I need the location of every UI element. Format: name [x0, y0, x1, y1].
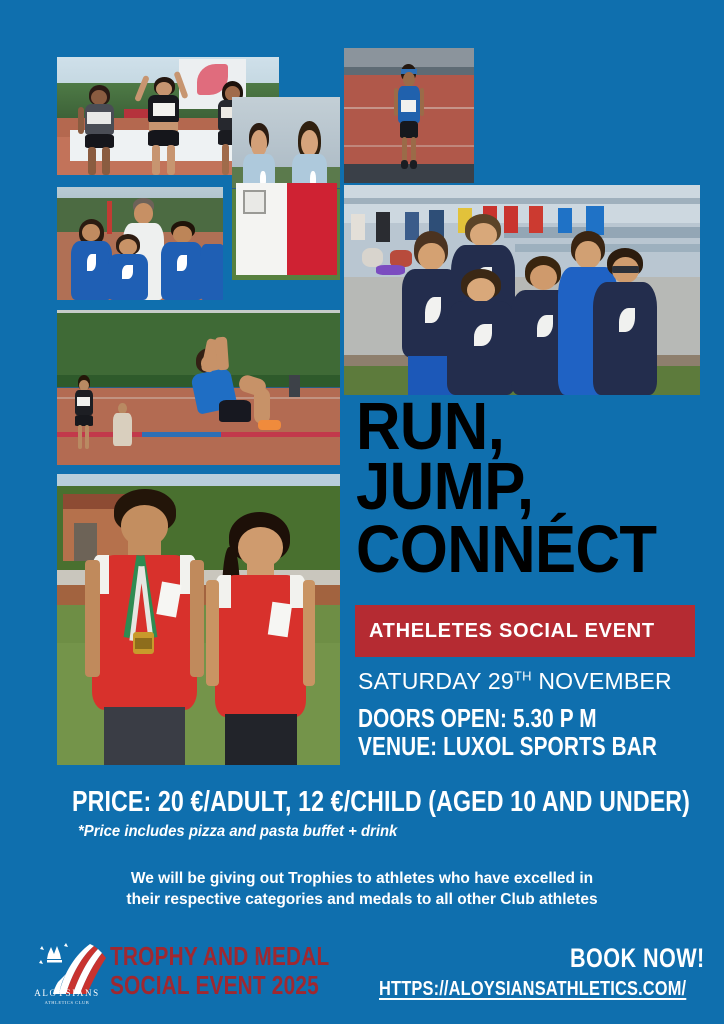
club-logo: ALOYSIANS ATHLETICS CLUB [28, 932, 106, 1010]
headline-line-2: JUMP, [356, 458, 533, 516]
club-logo-subtitle: ATHLETICS CLUB [28, 1000, 106, 1005]
poster-root: RUN, JUMP, CONNÉCT ATHELETES SOCIAL EVEN… [0, 0, 724, 1024]
photo-high-jump [57, 310, 340, 465]
photo-team-group [344, 185, 700, 395]
price-note: *Price includes pizza and pasta buffet +… [78, 823, 397, 841]
club-logo-mark [28, 932, 106, 1010]
photo-runner-track [344, 48, 474, 183]
footer-title-line-2: SOCIAL EVENT 2025 [110, 971, 319, 999]
headline-line-3: CONNÉCT [356, 521, 656, 579]
event-date: SATURDAY 29TH NOVEMBER [358, 668, 672, 695]
photo-medal-pair [57, 474, 340, 765]
event-date-ordinal: TH [514, 668, 532, 683]
award-description-line-1: We will be giving out Trophies to athlet… [0, 869, 724, 890]
venue-line: VENUE: LUXOL SPORTS BAR [358, 731, 657, 762]
event-type-label: ATHELETES SOCIAL EVENT [355, 620, 655, 643]
photo-coach-group [57, 187, 223, 300]
event-date-suffix: NOVEMBER [532, 668, 672, 694]
doors-open-line: DOORS OPEN: 5.30 P M [358, 703, 597, 734]
photo-malta-flag [232, 97, 340, 280]
book-now-label: BOOK NOW! [570, 943, 705, 974]
footer-title-line-1: TROPHY AND MEDAL [110, 942, 329, 970]
booking-url-link[interactable]: HTTPS://ALOYSIANSATHLETICS.COM/ [379, 977, 686, 1001]
club-logo-name: ALOYSIANS [28, 988, 106, 998]
event-date-prefix: SATURDAY 29 [358, 668, 514, 694]
award-description-line-2: their respective categories and medals t… [0, 890, 724, 911]
headline-line-1: RUN, [356, 398, 504, 456]
price-line: PRICE: 20 €/ADULT, 12 €/CHILD (AGED 10 A… [72, 786, 690, 819]
event-type-banner: ATHELETES SOCIAL EVENT [355, 605, 695, 657]
